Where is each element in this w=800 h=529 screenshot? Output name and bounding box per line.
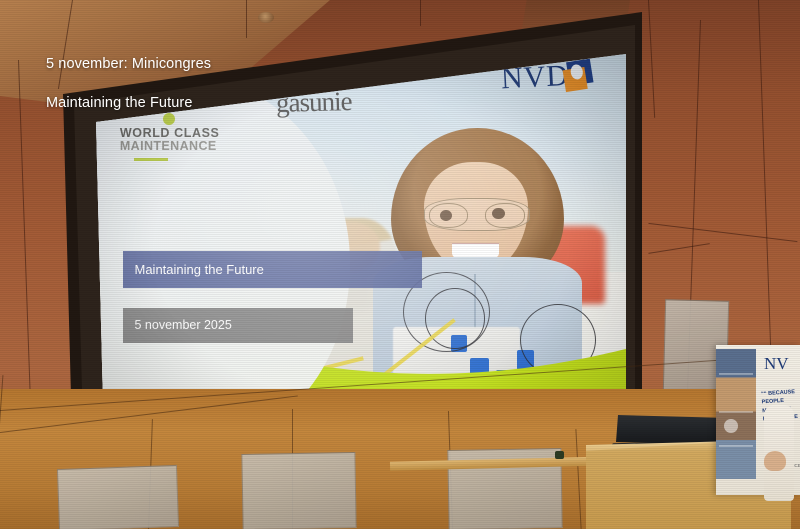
ceiling-fixture-icon bbox=[258, 12, 274, 23]
nvdo-o-mark-icon bbox=[563, 59, 595, 91]
caption-line-2: Maintaining the Future bbox=[46, 94, 211, 113]
rollup-photo-collage bbox=[716, 349, 756, 479]
wall-seam bbox=[246, 0, 247, 38]
caption-line-1: 5 november: Minicongres bbox=[46, 55, 211, 74]
rollup-headline: NV bbox=[764, 355, 789, 372]
wcm-underline bbox=[134, 158, 168, 161]
acoustic-panel bbox=[241, 452, 356, 529]
ledge-object bbox=[555, 451, 564, 459]
wall-seam bbox=[420, 0, 421, 26]
slide-title-banner: Maintaining the Future bbox=[123, 251, 423, 288]
wcm-line2: MAINTENANCE bbox=[120, 140, 253, 153]
laptop-screen[interactable] bbox=[616, 415, 732, 445]
presenter-hand bbox=[764, 451, 786, 471]
conference-room-photo: WORLD CLASS MAINTENANCE gasunie NVD Main… bbox=[0, 0, 800, 529]
robot-wire bbox=[425, 288, 485, 349]
slide-date-banner: 5 november 2025 bbox=[123, 308, 354, 343]
caption-overlay: 5 november: Minicongres Maintaining the … bbox=[46, 36, 211, 133]
safety-glasses-icon bbox=[424, 198, 531, 231]
acoustic-panel bbox=[57, 465, 179, 529]
